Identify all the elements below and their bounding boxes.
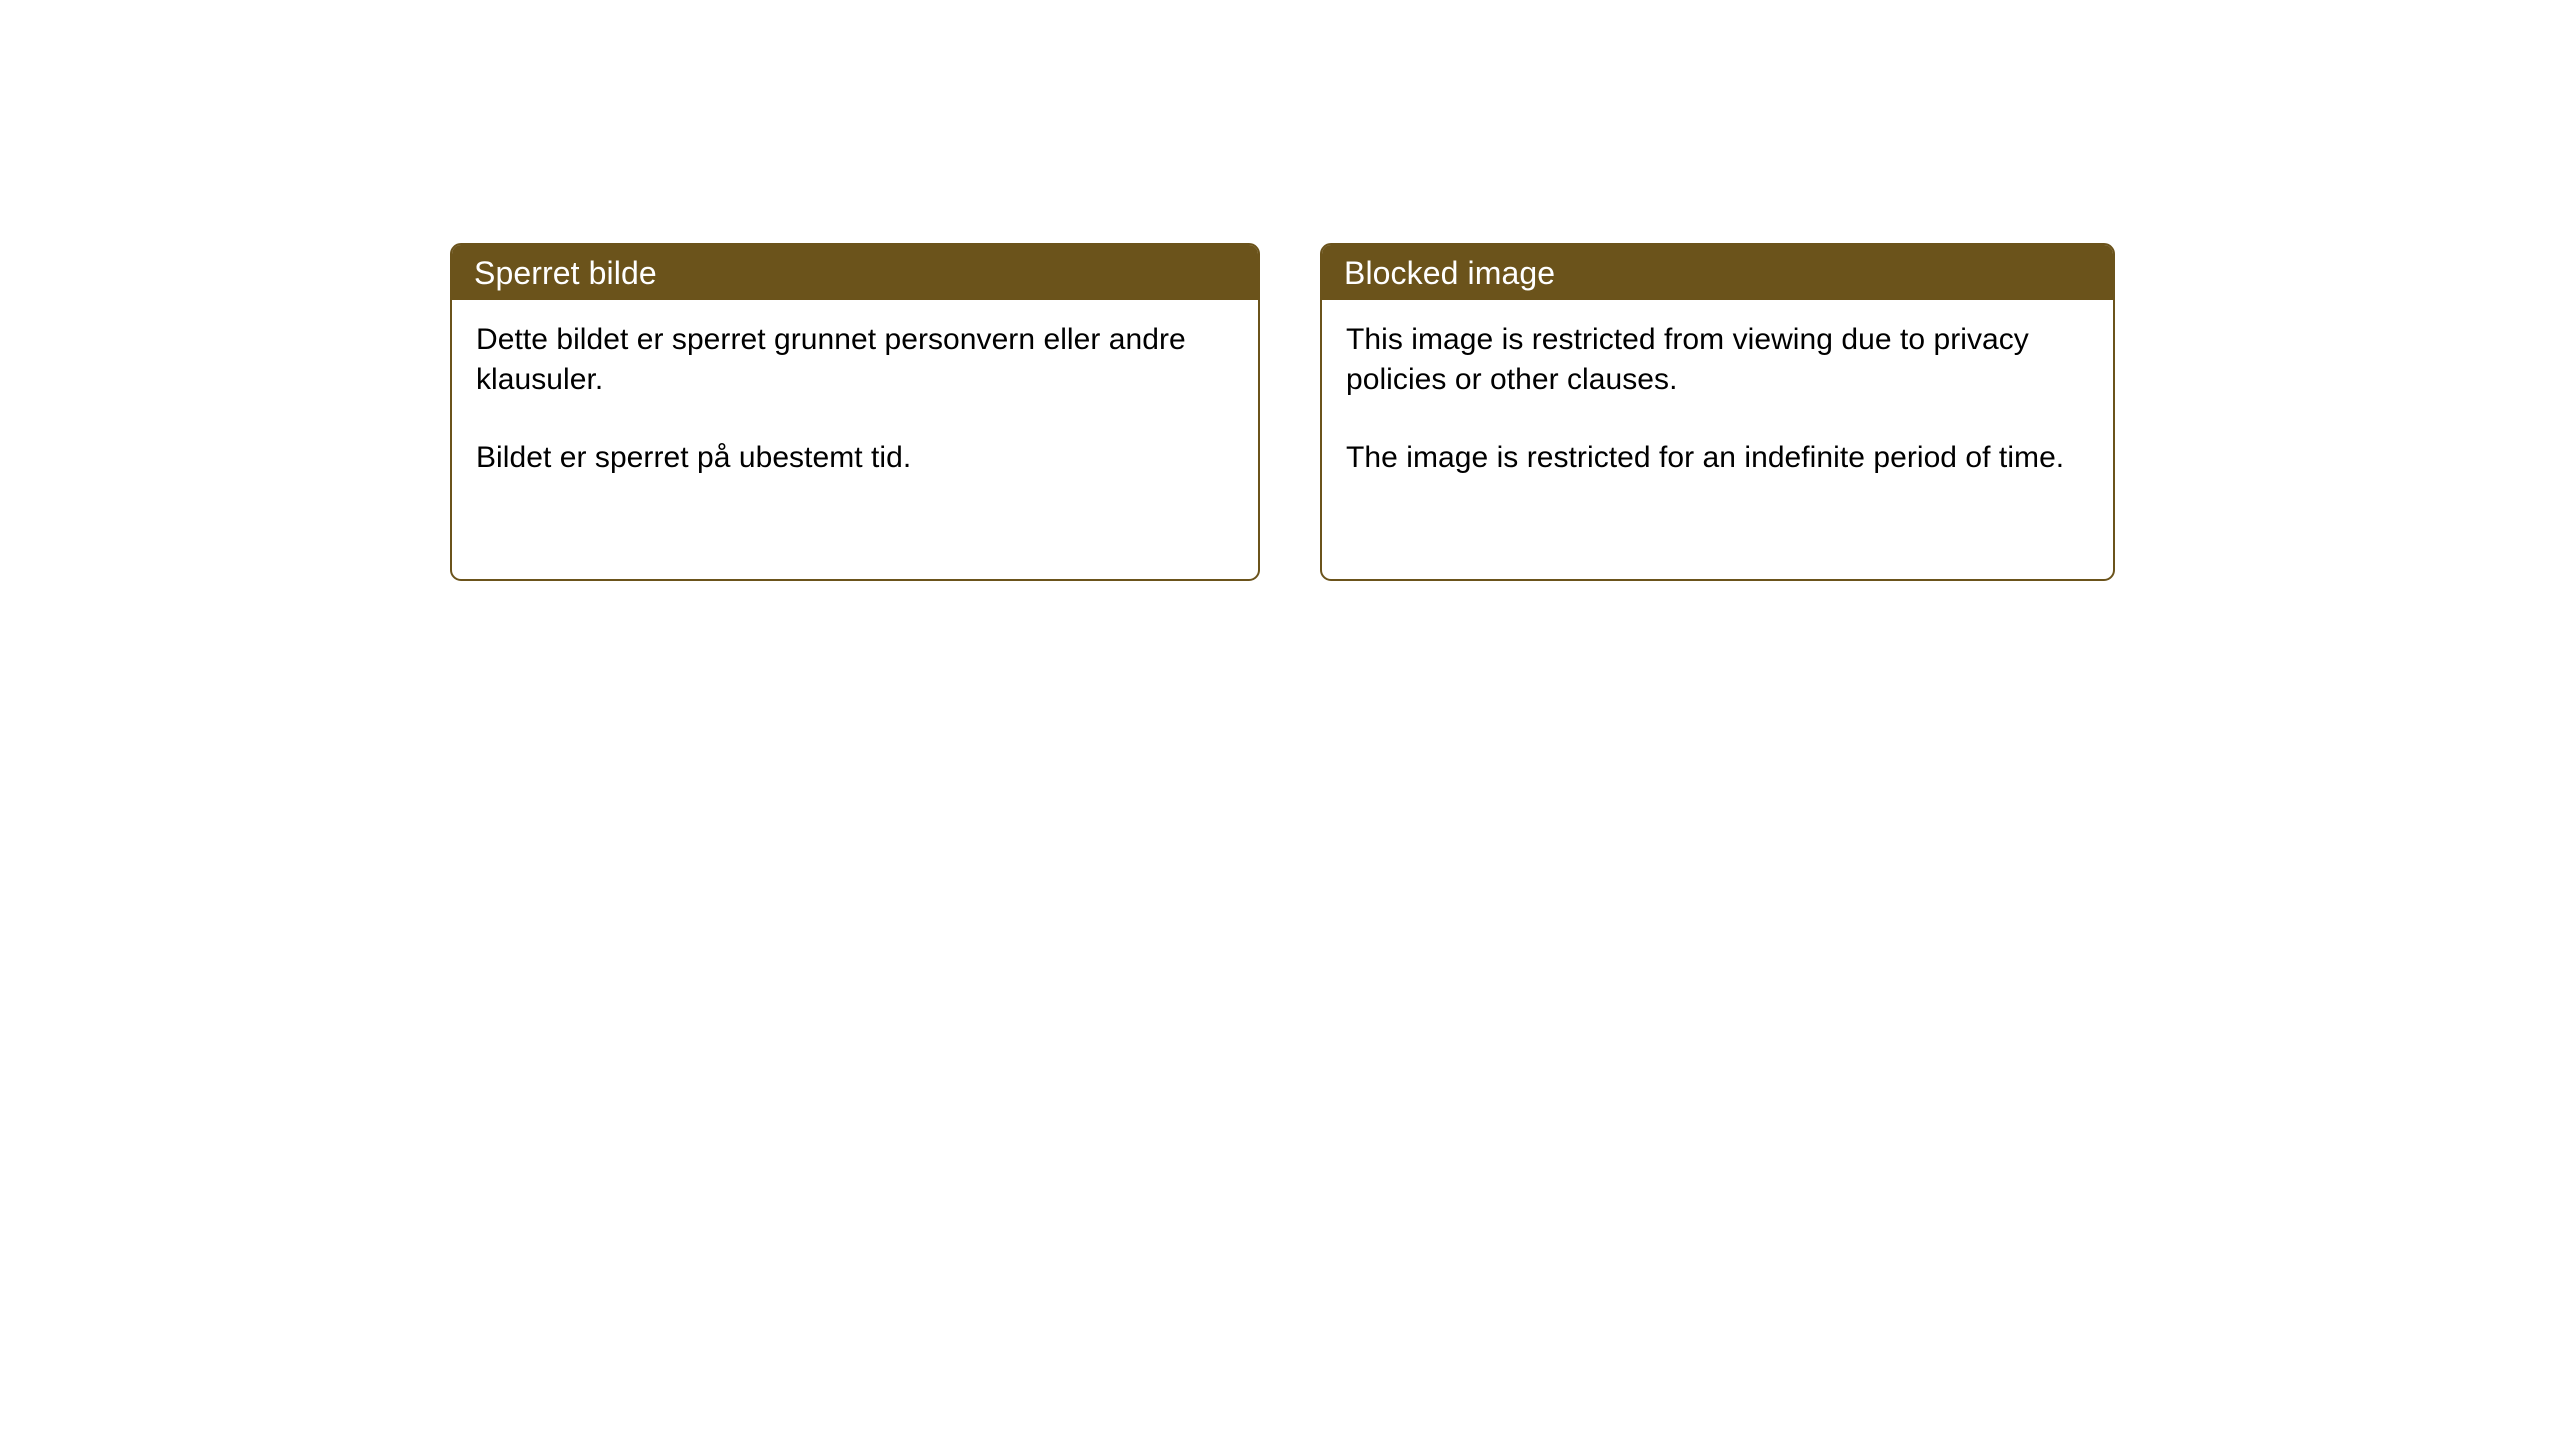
- notice-card-paragraph-no-1: Dette bildet er sperret grunnet personve…: [476, 320, 1234, 400]
- notice-card-title-no: Sperret bilde: [474, 257, 657, 289]
- notice-card-paragraph-en-2: The image is restricted for an indefinit…: [1346, 438, 2089, 478]
- blocked-image-notice-card-en: Blocked image This image is restricted f…: [1320, 243, 2115, 581]
- notice-card-body-no: Dette bildet er sperret grunnet personve…: [452, 300, 1258, 579]
- notice-card-title-en: Blocked image: [1344, 257, 1555, 289]
- notice-card-body-en: This image is restricted from viewing du…: [1322, 300, 2113, 579]
- notice-card-header-no: Sperret bilde: [452, 245, 1258, 300]
- notice-card-header-en: Blocked image: [1322, 245, 2113, 300]
- notice-card-paragraph-en-1: This image is restricted from viewing du…: [1346, 320, 2089, 400]
- blocked-image-notice-card-no: Sperret bilde Dette bildet er sperret gr…: [450, 243, 1260, 581]
- notice-card-paragraph-no-2: Bildet er sperret på ubestemt tid.: [476, 438, 1234, 478]
- page-canvas: Sperret bilde Dette bildet er sperret gr…: [0, 0, 2560, 1440]
